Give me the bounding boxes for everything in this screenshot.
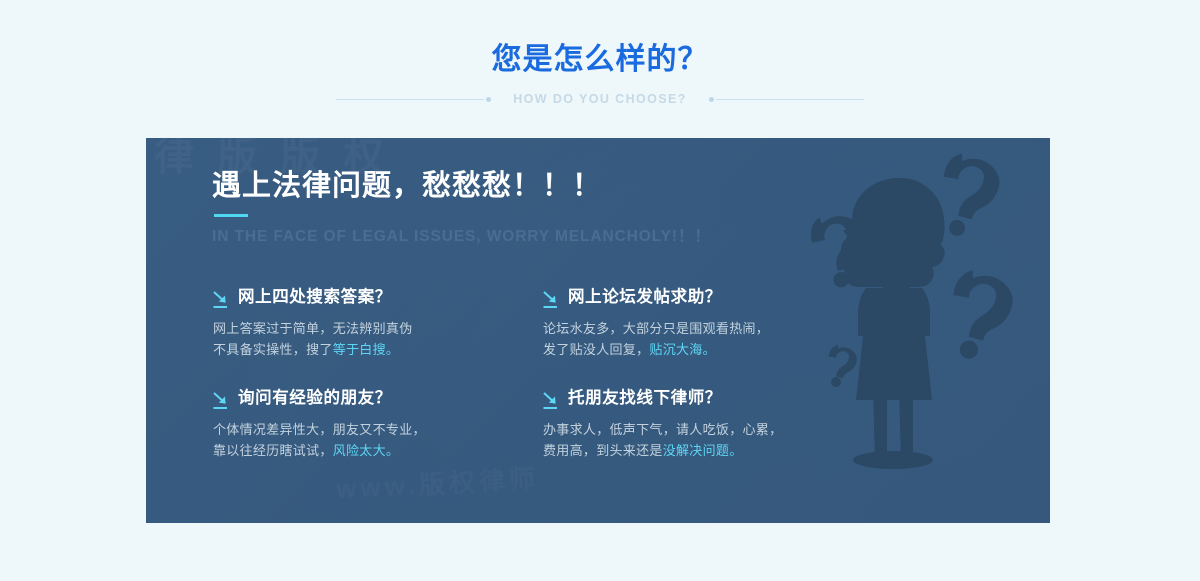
item-description: 办事求人，低声下气，请人吃饭，心累， 费用高，到头来还是没解决问题。 [543,419,872,461]
list-item: 网上论坛发帖求助？ 论坛水友多，大部分只是围观看热闹， 发了贴没人回复，贴沉大海… [542,287,872,360]
item-desc-line-2: 费用高，到头来还是没解决问题。 [543,440,872,461]
item-description: 网上答案过于简单，无法辨别真伪 不具备实操性，搜了等于白搜。 [213,318,542,360]
subtitle-row: HOW DO YOU CHOOSE? [0,92,1200,106]
panel-inner: 遇上法律问题，愁愁愁！！！ IN THE FACE OF LEGAL ISSUE… [146,138,1050,461]
item-title-row: 网上论坛发帖求助？ [542,287,872,309]
item-title: 询问有经验的朋友？ [238,388,392,409]
item-desc-line-2: 靠以往经历瞎试试，风险太大。 [213,440,542,461]
item-desc-highlight: 风险太大 [333,443,386,458]
decorative-bar [336,99,484,100]
item-desc-line-1: 论坛水友多，大部分只是围观看热闹， [543,318,872,339]
panel-heading: 遇上法律问题，愁愁愁！！！ [212,168,1050,204]
item-desc-line-1: 个体情况差异性大，朋友又不专业， [213,419,542,440]
item-desc-text: 个体情况差异性大，朋友又不专业， [213,422,426,437]
item-desc-text: 网上答案过于简单，无法辨别真伪 [213,321,413,336]
diagonal-arrow-bullet-icon [212,391,229,410]
item-title: 托朋友找线下律师？ [568,388,722,409]
item-desc-highlight: 没解决问题 [663,443,730,458]
item-desc-text: 费用高，到头来还是 [543,443,663,458]
item-title: 网上四处搜索答案？ [238,287,392,308]
item-desc-highlight: 贴沉大海 [649,342,702,357]
items-grid: 网上四处搜索答案？ 网上答案过于简单，无法辨别真伪 不具备实操性，搜了等于白搜。… [212,287,1050,461]
item-desc-text: 不具备实操性，搜了 [213,342,333,357]
panel-subheading: IN THE FACE OF LEGAL ISSUES, WORRY MELAN… [212,224,1050,246]
page-subtitle: HOW DO YOU CHOOSE? [491,92,709,106]
section-header: 您是怎么样的？ HOW DO YOU CHOOSE? [0,0,1200,106]
item-desc-line-1: 网上答案过于简单，无法辨别真伪 [213,318,542,339]
item-desc-line-2: 发了贴没人回复，贴沉大海。 [543,339,872,360]
item-desc-punct: 。 [386,342,399,357]
item-desc-line-2: 不具备实操性，搜了等于白搜。 [213,339,542,360]
page-title: 您是怎么样的？ [0,42,1200,78]
list-item: 托朋友找线下律师？ 办事求人，低声下气，请人吃饭，心累， 费用高，到头来还是没解… [542,388,872,461]
decorative-dot [709,97,714,102]
list-item: 网上四处搜索答案？ 网上答案过于简单，无法辨别真伪 不具备实操性，搜了等于白搜。 [212,287,542,360]
item-desc-line-1: 办事求人，低声下气，请人吃饭，心累， [543,419,872,440]
watermark-bottom: www.版权律师 [335,459,540,507]
item-title-row: 网上四处搜索答案？ [212,287,542,309]
diagonal-arrow-bullet-icon [542,290,559,309]
decorative-line-right [709,97,864,102]
diagonal-arrow-bullet-icon [212,290,229,309]
item-title: 网上论坛发帖求助？ [568,287,722,308]
item-title-row: 托朋友找线下律师？ [542,388,872,410]
item-desc-text: 论坛水友多，大部分只是围观看热闹， [543,321,769,336]
item-desc-text: 靠以往经历瞎试试， [213,443,333,458]
item-desc-punct: 。 [703,342,716,357]
item-title-row: 询问有经验的朋友？ [212,388,542,410]
list-item: 询问有经验的朋友？ 个体情况差异性大，朋友又不专业， 靠以往经历瞎试试，风险太大… [212,388,542,461]
item-desc-text: 办事求人，低声下气，请人吃饭，心累， [543,422,782,437]
item-description: 个体情况差异性大，朋友又不专业， 靠以往经历瞎试试，风险太大。 [213,419,542,461]
item-desc-text: 发了贴没人回复， [543,342,649,357]
diagonal-arrow-bullet-icon [542,391,559,410]
item-desc-punct: 。 [729,443,742,458]
decorative-bar [716,99,864,100]
item-desc-punct: 。 [386,443,399,458]
item-description: 论坛水友多，大部分只是围观看热闹， 发了贴没人回复，贴沉大海。 [543,318,872,360]
decorative-line-left [336,97,491,102]
item-desc-highlight: 等于白搜 [333,342,386,357]
content-panel: 律 版 版 权 www.版权律师 [146,138,1050,523]
heading-accent-rule [214,214,248,217]
